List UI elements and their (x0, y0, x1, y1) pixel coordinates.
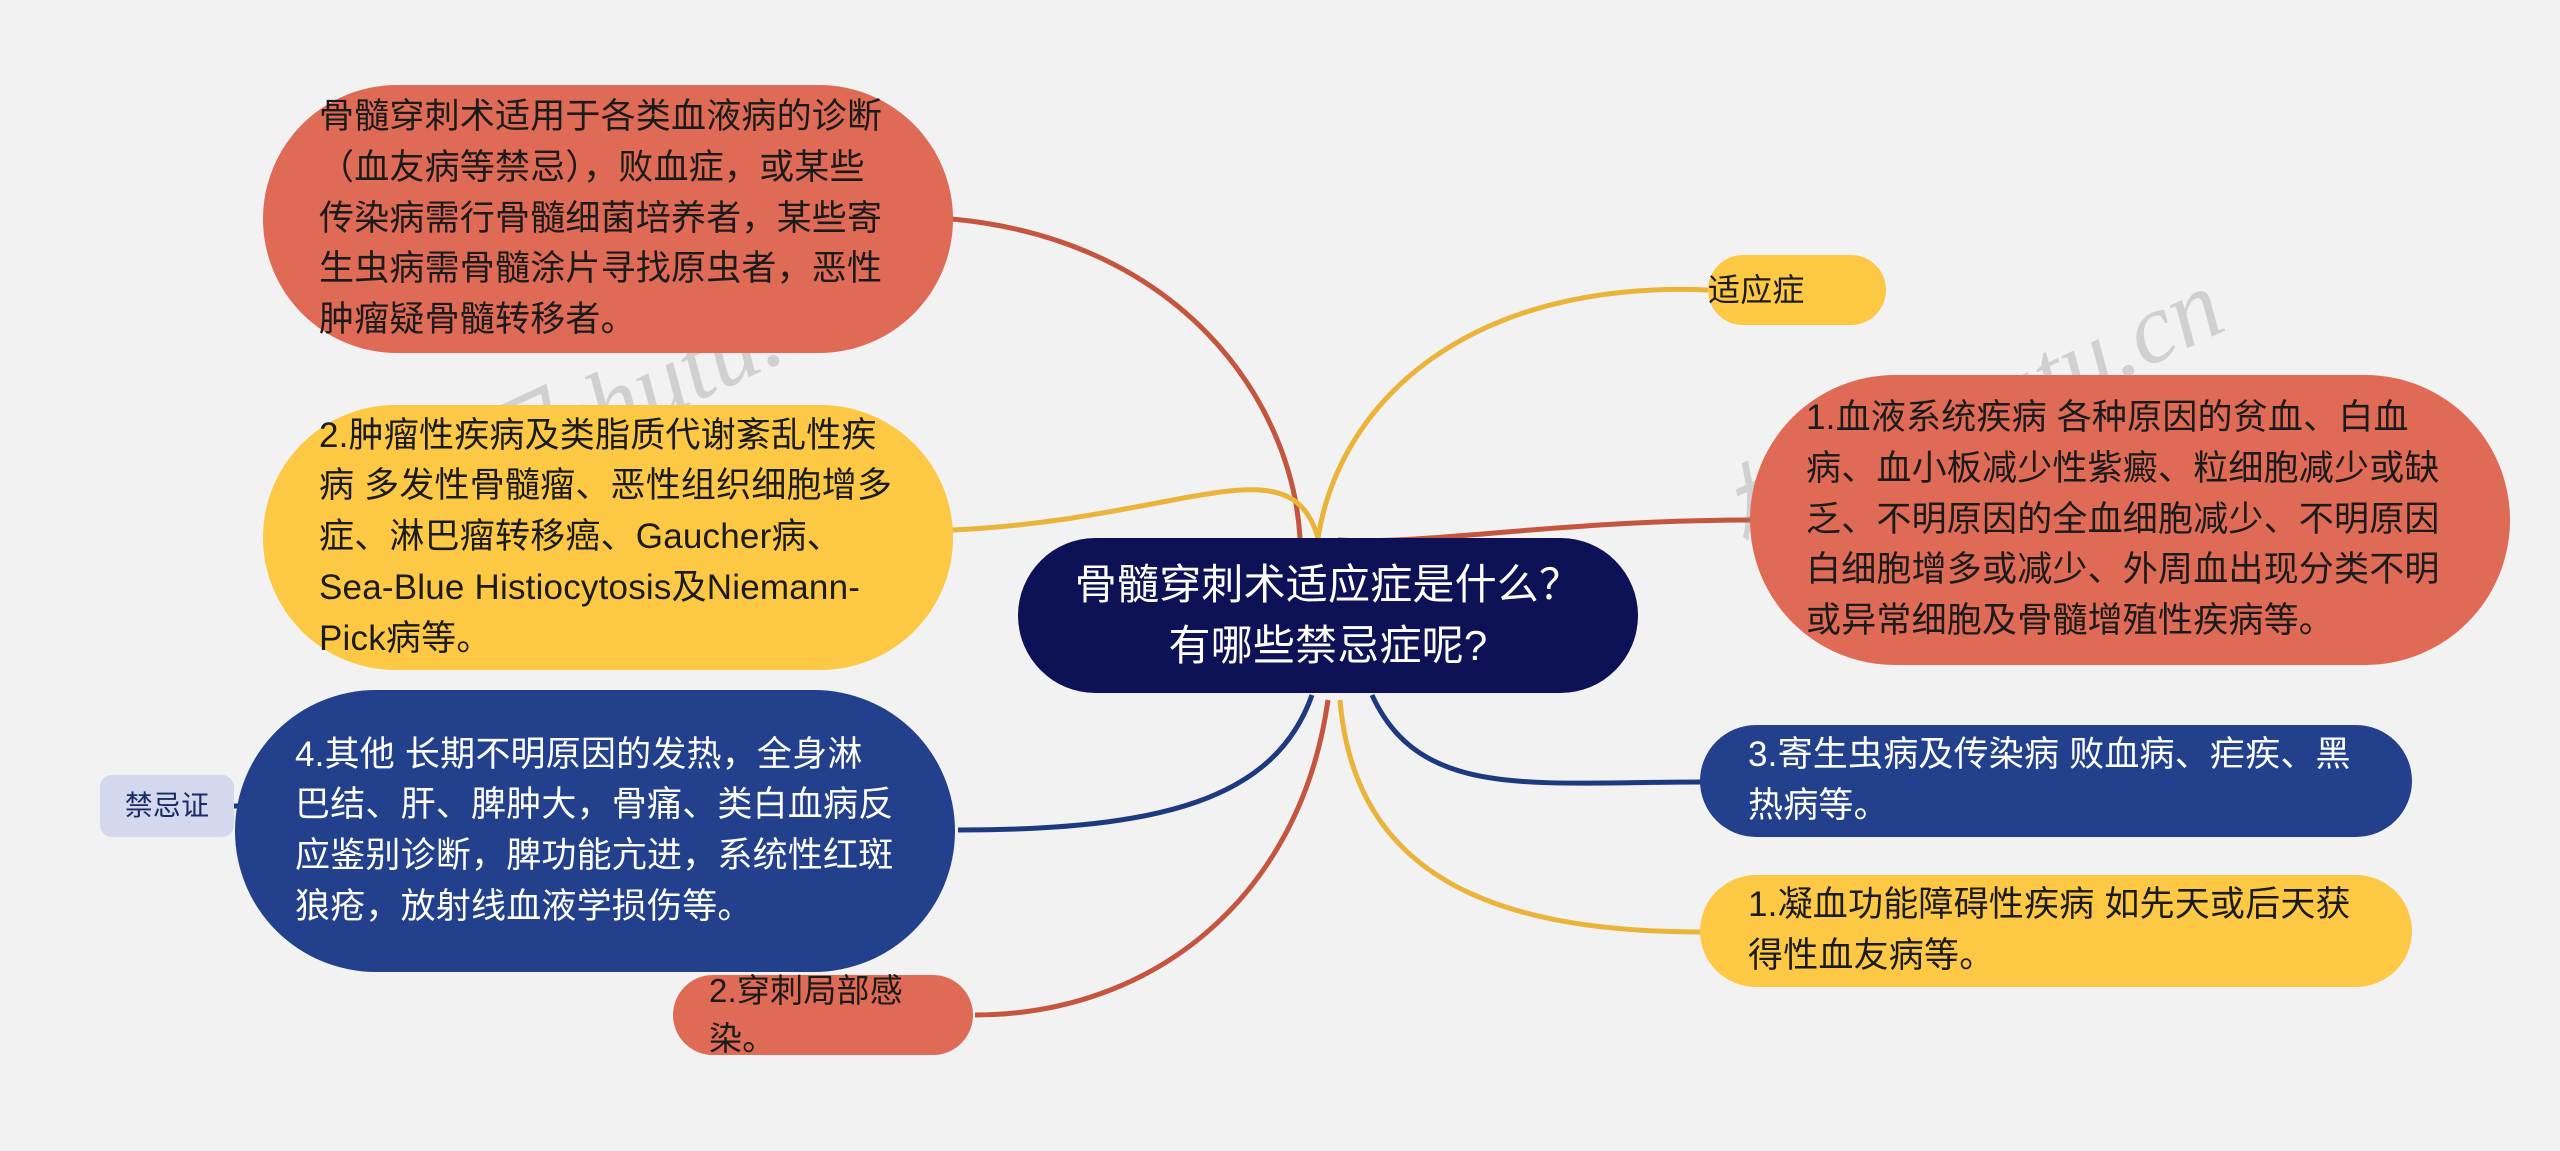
node-adaptation-4-text: 4.其他 长期不明原因的发热，全身淋巴结、肝、脾肿大，骨痛、类白血病反应鉴别诊断… (295, 730, 895, 933)
edge-to-adaptation-label (1318, 289, 1708, 538)
mindmap-canvas: 树图shutu.cn 树图shutu.cn 骨髓穿刺术适用于各类血液病的诊断（血… (0, 0, 2560, 1151)
central-topic-text: 骨髓穿刺术适应症是什么？有哪些禁忌症呢? (1058, 555, 1598, 677)
edge-to-adaptation-2 (952, 490, 1318, 538)
node-adaptation-1-text: 1.血液系统疾病 各种原因的贫血、白血病、血小板减少性紫癜、粒细胞减少或缺乏、不… (1806, 393, 2454, 647)
branch-label-contraindication-text: 禁忌证 (100, 786, 234, 827)
node-adaptation-intro-text: 骨髓穿刺术适用于各类血液病的诊断（血友病等禁忌），败血症，或某些传染病需行骨髓细… (319, 92, 897, 346)
node-contraindication-1-text: 1.凝血功能障碍性疾病 如先天或后天获得性血友病等。 (1748, 880, 2364, 982)
node-adaptation-3[interactable]: 3.寄生虫病及传染病 败血病、疟疾、黑热病等。 (1700, 725, 2412, 837)
node-contraindication-2-text: 2.穿刺局部感染。 (709, 967, 937, 1063)
node-adaptation-4[interactable]: 4.其他 长期不明原因的发热，全身淋巴结、肝、脾肿大，骨痛、类白血病反应鉴别诊断… (235, 690, 955, 972)
edge-to-adaptation-intro (952, 219, 1300, 538)
edge-to-contraindication-2 (975, 700, 1328, 1015)
node-adaptation-1[interactable]: 1.血液系统疾病 各种原因的贫血、白血病、血小板减少性紫癜、粒细胞减少或缺乏、不… (1750, 375, 2510, 665)
branch-label-adaptation[interactable]: 适应症 (1708, 255, 1886, 325)
node-adaptation-3-text: 3.寄生虫病及传染病 败血病、疟疾、黑热病等。 (1748, 730, 2364, 832)
edge-to-contraindication-1 (1340, 700, 1702, 932)
node-contraindication-1[interactable]: 1.凝血功能障碍性疾病 如先天或后天获得性血友病等。 (1700, 875, 2412, 987)
central-topic[interactable]: 骨髓穿刺术适应症是什么？有哪些禁忌症呢? (1018, 538, 1638, 693)
edge-to-adaptation-3 (1372, 695, 1702, 783)
branch-label-contraindication[interactable]: 禁忌证 (100, 775, 234, 837)
node-adaptation-2[interactable]: 2.肿瘤性疾病及类脂质代谢紊乱性疾病 多发性骨髓瘤、恶性组织细胞增多症、淋巴瘤转… (263, 405, 953, 670)
node-adaptation-intro[interactable]: 骨髓穿刺术适用于各类血液病的诊断（血友病等禁忌），败血症，或某些传染病需行骨髓细… (263, 85, 953, 353)
node-adaptation-2-text: 2.肿瘤性疾病及类脂质代谢紊乱性疾病 多发性骨髓瘤、恶性组织细胞增多症、淋巴瘤转… (319, 411, 897, 665)
node-contraindication-2[interactable]: 2.穿刺局部感染。 (673, 975, 973, 1055)
edge-to-adaptation-4 (958, 695, 1312, 830)
branch-label-adaptation-text: 适应症 (1708, 267, 1886, 313)
